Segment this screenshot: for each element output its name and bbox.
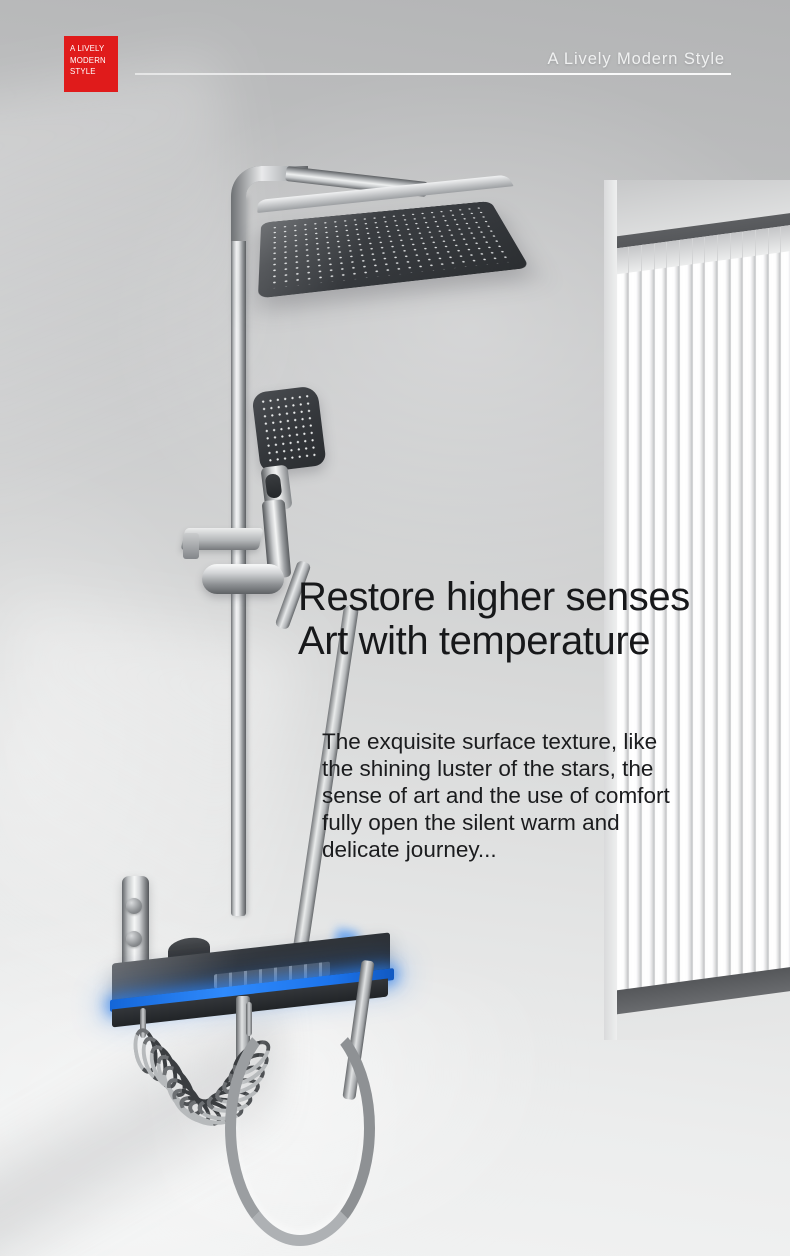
headline: Restore higher senses Art with temperatu… — [298, 575, 790, 663]
body-line-3: sense of art and the use of comfort — [322, 782, 790, 809]
body-copy: The exquisite surface texture, like the … — [322, 728, 790, 863]
headline-line-1: Restore higher senses — [298, 575, 690, 619]
rail-slider-holder — [202, 564, 284, 594]
control-button-lower — [126, 931, 142, 947]
handheld-nozzle-face — [251, 385, 326, 472]
body-line-5: delicate journey... — [322, 836, 790, 863]
headline-line-2: Art with temperature — [298, 619, 790, 663]
wall-bracket-foot — [183, 533, 199, 559]
handheld-mode-button — [265, 473, 283, 499]
control-button-upper — [126, 898, 142, 914]
shower-head-nozzle-face — [258, 201, 530, 298]
riser-rail — [231, 196, 246, 916]
rain-shower-head — [262, 186, 514, 302]
chrome-hose-arc — [225, 1010, 375, 1246]
body-line-2: the shining luster of the stars, the — [322, 755, 790, 782]
body-line-4: fully open the silent warm and — [322, 809, 790, 836]
body-line-1: The exquisite surface texture, like — [322, 728, 790, 755]
product-marketing-image: A LIVELY MODERN STYLE A Lively Modern St… — [0, 0, 790, 1256]
